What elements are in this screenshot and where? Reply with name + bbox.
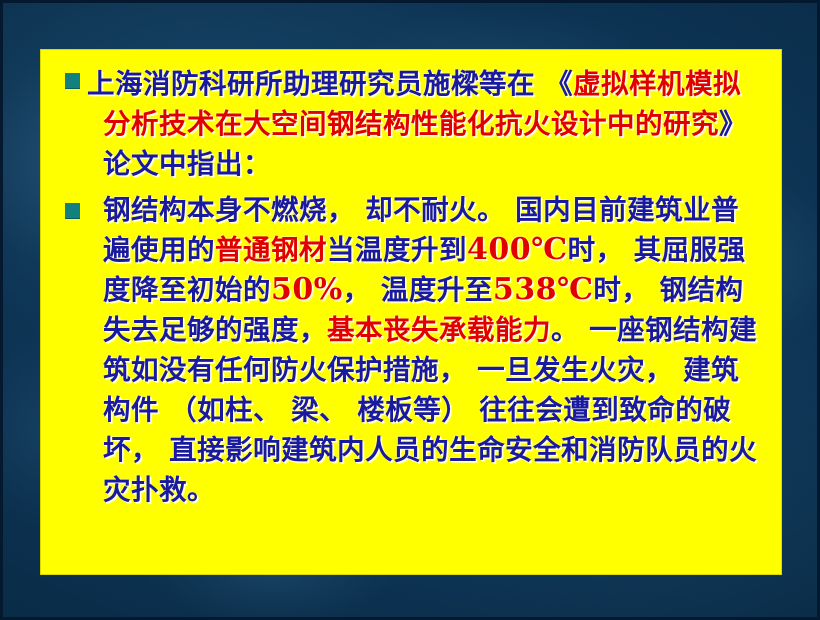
bullet-2-segment-7: ， 温度升至 — [343, 274, 493, 306]
bullet-2-segment-10: 基本丧失承载能力 — [327, 314, 551, 346]
bullet-list: 上海消防科研所助理研究员施樑等在 《虚拟样机模拟分析技术在大空间钢结构性能化抗火… — [41, 50, 781, 510]
square-bullet-icon — [65, 73, 80, 88]
bullet-2-text: 钢结构本身不燃烧， 却不耐火。 国内目前建筑业普遍使用的普通钢材当温度升到400… — [103, 190, 765, 510]
bullet-item-1: 上海消防科研所助理研究员施樑等在 《虚拟样机模拟分析技术在大空间钢结构性能化抗火… — [57, 64, 765, 184]
content-panel: 上海消防科研所助理研究员施樑等在 《虚拟样机模拟分析技术在大空间钢结构性能化抗火… — [41, 50, 781, 574]
bullet-item-2: 钢结构本身不燃烧， 却不耐火。 国内目前建筑业普遍使用的普通钢材当温度升到400… — [57, 190, 765, 510]
bullet-2-segment-3: 当温度升到 — [327, 234, 467, 266]
square-bullet-icon — [65, 203, 80, 218]
bullet-1-text: 上海消防科研所助理研究员施樑等在 《虚拟样机模拟分析技术在大空间钢结构性能化抗火… — [103, 64, 765, 184]
percent-value-50: 50% — [271, 272, 343, 307]
bullet-1-segment-1: 上海消防科研所助理研究员施樑等在 《 — [87, 68, 573, 100]
bullet-2-segment-2: 普通钢材 — [215, 234, 327, 266]
slide-canvas: 上海消防科研所助理研究员施樑等在 《虚拟样机模拟分析技术在大空间钢结构性能化抗火… — [0, 0, 820, 620]
temperature-value-538: 538℃ — [493, 272, 594, 307]
temperature-value-400: 400℃ — [467, 232, 568, 267]
